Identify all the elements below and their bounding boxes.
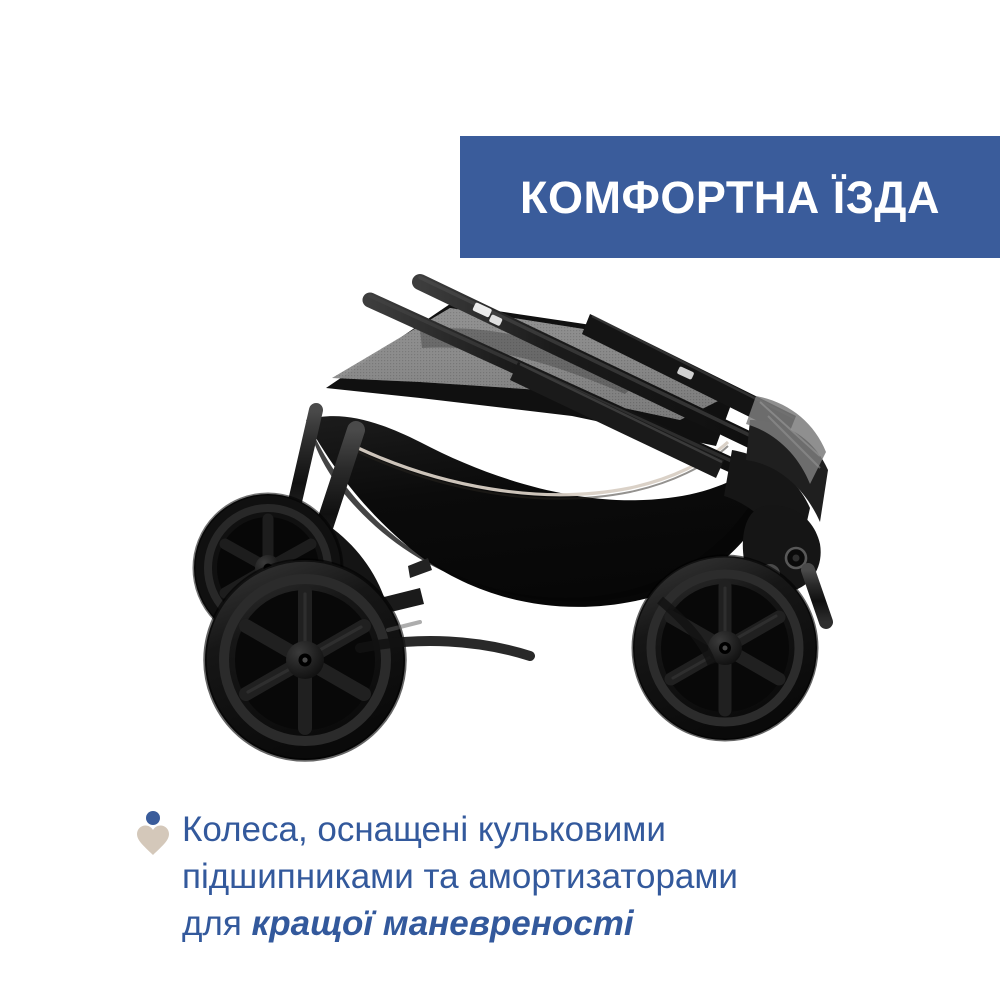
caption-line-1: Колеса, оснащені кульковими (182, 810, 666, 849)
headline-banner: КОМФОРТНА ЇЗДА (460, 136, 1000, 258)
icon-heart-body (137, 826, 169, 856)
product-photo-stroller (120, 270, 880, 780)
caption-line-3-emphasis: кращої маневреності (252, 904, 634, 943)
feature-caption-text: Колеса, оснащені кульковими підшипниками… (182, 806, 926, 947)
poster-canvas: КОМФОРТНА ЇЗДА (0, 0, 1000, 1000)
baby-person-icon (136, 810, 170, 856)
headline-text: КОМФОРТНА ЇЗДА (520, 175, 940, 220)
caption-line-3-plain: для (182, 904, 252, 943)
caption-line-2: підшипниками та амортизаторами (182, 857, 738, 896)
icon-head-dot (146, 811, 160, 825)
